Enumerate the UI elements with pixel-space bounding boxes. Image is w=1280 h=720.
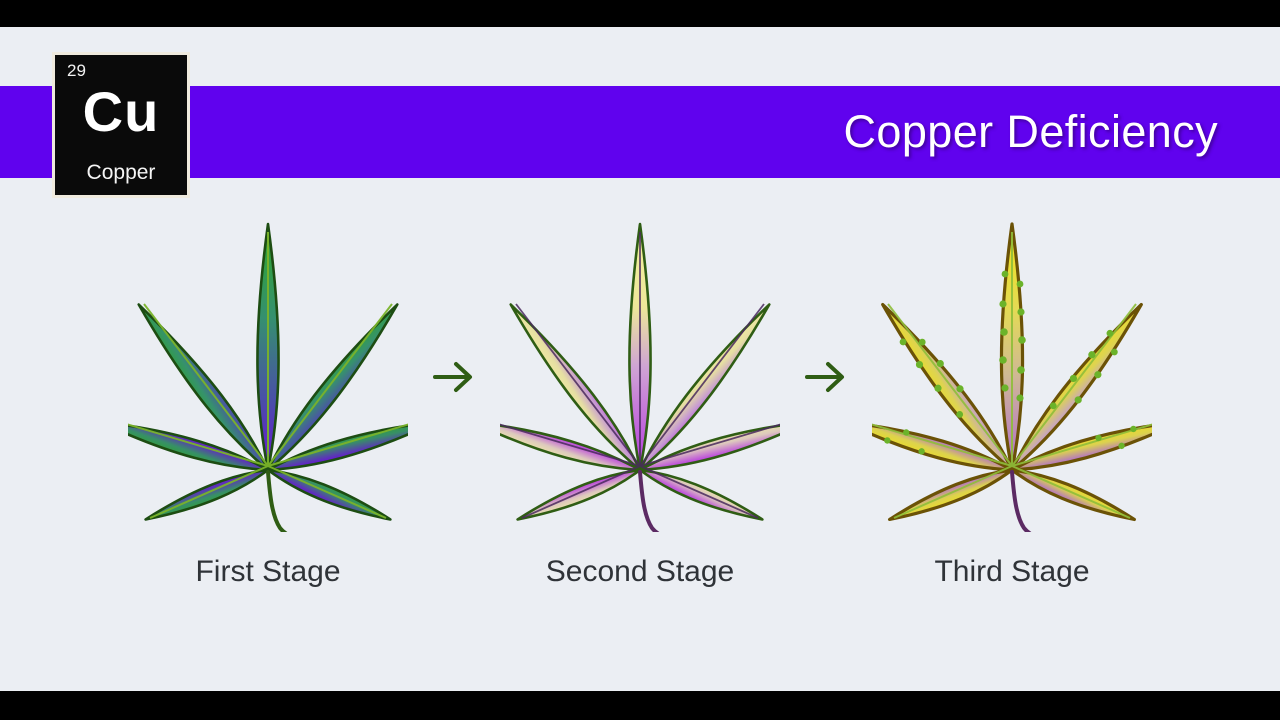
slide-frame: Copper Deficiency 29 Cu Copper [0,0,1280,720]
element-name: Copper [55,161,187,185]
deficiency-stages-row: First Stage [0,217,1280,657]
stage-second: Second Stage [490,217,790,589]
leaf-first-stage-box [123,217,413,537]
cannabis-leaf-icon [872,222,1152,532]
letterbox-bottom-bar [0,691,1280,720]
element-atomic-number: 29 [67,61,86,81]
title-banner: Copper Deficiency [0,86,1280,178]
page-title: Copper Deficiency [844,106,1280,158]
periodic-element-tile: 29 Cu Copper [52,52,190,198]
leaf-second-stage-box [495,217,785,537]
slide-canvas: Copper Deficiency 29 Cu Copper [0,27,1280,691]
element-symbol: Cu [55,79,187,144]
arrow-right-icon [801,357,851,397]
cannabis-leaf-icon [500,222,780,532]
stage-first: First Stage [118,217,418,589]
arrow-right-icon [429,357,479,397]
arrow-first-to-second [418,217,490,537]
stage-label-second: Second Stage [546,555,734,589]
letterbox-top-bar [0,0,1280,27]
leaf-third-stage-box [867,217,1157,537]
stage-label-third: Third Stage [934,555,1089,589]
cannabis-leaf-icon [128,222,408,532]
arrow-second-to-third [790,217,862,537]
stage-third: Third Stage [862,217,1162,589]
stage-label-first: First Stage [195,555,340,589]
